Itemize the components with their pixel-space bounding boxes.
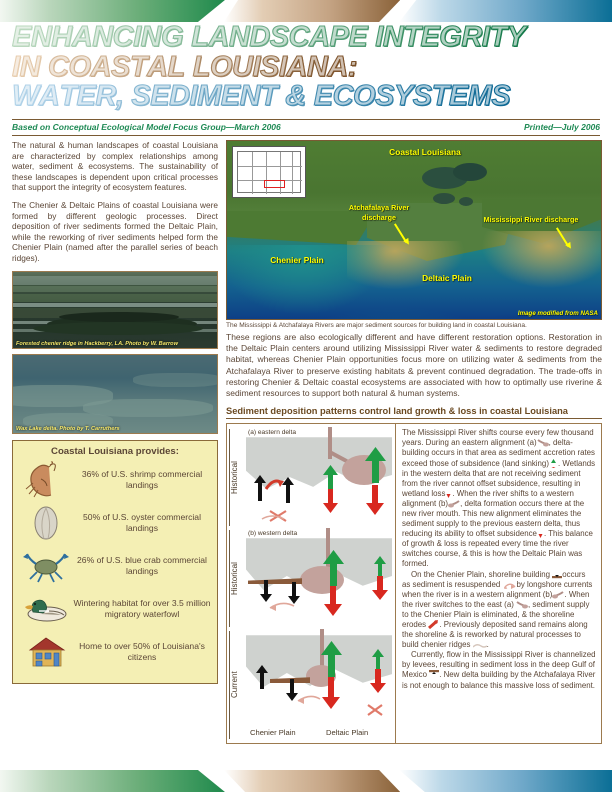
shoreline-building-icon [552,570,562,579]
photo-caption: Forested chenier ridge in Hackberry, LA.… [13,340,217,348]
black-arrow-down [288,582,300,604]
list-item-label: 50% of U.S. oyster commercial landings [73,512,211,534]
eastern-alignment-icon [516,601,528,609]
red-arrow-down-large [324,586,342,616]
gradient-segment-tan [224,770,400,792]
byline-printed: Printed—July 2006 [524,122,600,132]
restoration-paragraph: These regions are also ecologically diff… [226,332,602,399]
diagram-panel-current: Current Che [227,629,395,741]
photo-wax-lake-delta: Wax Lake delta. Photo by T. Carruthers [12,354,218,434]
photo-chenier-ridge: Forested chenier ridge in Hackberry, LA.… [12,271,218,349]
sediment-diagram-section: Historical (a) eastern delta [226,423,602,744]
photo-caption: Wax Lake delta. Photo by T. Carruthers [13,425,217,433]
panel-side-label: Historical [229,530,242,627]
list-item: 36% of U.S. shrimp commercial landings [19,461,211,499]
map-label-coastal-louisiana: Coastal Louisiana [355,147,495,157]
explanation-paragraph-2: On the Chenier Plain, shoreline building… [402,570,596,651]
intro-text: The natural & human landscapes of coasta… [12,140,218,264]
diagram-panel-eastern-delta: Historical (a) eastern delta [227,427,395,528]
list-item-label: Wintering habitat for over 3.5 million m… [73,598,211,620]
coastal-louisiana-provides-box: Coastal Louisiana provides: 36% of U.S. … [12,440,218,684]
satellite-map: Coastal Louisiana Atchafalaya River disc… [226,140,602,320]
red-curved-arrow [266,480,284,489]
explanation-paragraph-1: The Mississippi River shifts course ever… [402,428,596,569]
panel-arrows [244,427,396,528]
panel-arrows [244,629,396,741]
green-arrow-up-large [365,447,386,483]
chenier-ridges-icon [473,643,487,649]
bottom-gradient-bar [0,770,612,792]
red-arrow-down-large [366,485,384,515]
red-arrow-down [370,669,386,693]
diagram-panel-western-delta: Historical (b) western delta [227,528,395,629]
diagram-label-chenier-plain: Chenier Plain [250,728,296,737]
western-alignment-icon [552,591,564,599]
shoreline-erosion-icon [428,620,439,629]
text-run: On the Chenier Plain, shoreline building [411,570,550,579]
map-label-atchafalaya: Atchafalaya River discharge [335,203,423,223]
shoreline-squiggle [270,604,294,612]
sediment-loss-icon [429,670,439,679]
black-arrow-up [256,665,268,689]
diagram-label-deltaic-plain: Deltaic Plain [326,728,368,737]
explanation-paragraph-3: Currently, flow in the Mississippi River… [402,650,596,690]
locator-highlight-box [264,180,285,188]
list-item-label: Home to over 50% of Louisiana's citizens [73,641,211,663]
subsidence-icon [549,459,558,468]
green-arrow-up-small [374,556,386,576]
right-column: Coastal Louisiana Atchafalaya River disc… [226,140,602,744]
green-arrow-up-large [323,550,344,586]
black-arrow-down [286,679,298,701]
gradient-segment-blue [399,0,612,22]
provides-heading: Coastal Louisiana provides: [19,446,211,457]
list-item-label: 36% of U.S. shrimp commercial landings [73,469,211,491]
byline-source: Based on Conceptual Ecological Model Foc… [12,122,281,132]
panel-side-label: Historical [229,429,242,526]
subsidence-loss-icon [537,529,544,538]
list-item: 26% of U.S. blue crab commercial landing… [19,547,211,585]
green-arrow-up [323,465,338,489]
restoration-text: These regions are also ecologically diff… [226,332,602,399]
panel-scene: Chenier Plain Deltaic Plain [244,629,395,741]
red-arrow-down [323,489,338,513]
blue-crab-icon [19,547,73,585]
map-label-deltaic-plain: Deltaic Plain [407,273,487,283]
map-credit: Image modified from NASA [518,310,598,317]
title-line-2: IN COASTAL LOUISIANA: [12,54,602,82]
us-locator-inset [232,146,306,198]
map-caption: The Mississippi & Atchafalaya Rivers are… [226,320,602,332]
panel-arrows [244,528,396,629]
list-item: Home to over 50% of Louisiana's citizens [19,633,211,671]
panel-scene: (b) western delta [244,528,395,629]
green-arrow-up-small [372,649,384,669]
text-run: . [487,640,489,649]
green-arrow-up-large [321,641,342,677]
shrimp-icon [19,461,73,499]
panel-scene: (a) eastern delta [244,427,395,528]
resuspension-icon [502,582,516,589]
red-x-mark [368,705,382,715]
left-column: The natural & human landscapes of coasta… [12,140,218,684]
intro-paragraph-1: The natural & human landscapes of coasta… [12,140,218,193]
gradient-segment-green [0,0,225,22]
eastern-alignment-icon [537,439,549,447]
page-title: ENHANCING LANDSCAPE INTEGRITY IN COASTAL… [12,24,602,111]
top-gradient-bar [0,0,612,22]
map-label-chenier-plain: Chenier Plain [257,255,337,265]
map-label-mississippi: Mississippi River discharge [483,215,579,225]
list-item: 50% of U.S. oyster commercial landings [19,504,211,542]
byline: Based on Conceptual Ecological Model Foc… [12,119,600,136]
title-line-1: ENHANCING LANDSCAPE INTEGRITY [12,24,602,52]
oyster-icon [19,504,73,542]
black-arrow-up [254,475,266,501]
list-item: Wintering habitat for over 3.5 million m… [19,590,211,628]
red-arrow-down [372,576,388,600]
gradient-segment-tan [224,0,400,22]
duck-icon [19,590,73,628]
black-arrow-up [282,477,294,503]
house-icon [19,633,73,671]
western-alignment-icon [448,500,460,508]
delta-diagram-panels: Historical (a) eastern delta [227,424,395,743]
red-arrow-down-large [322,677,340,709]
intro-paragraph-2: The Chenier & Deltaic Plains of coastal … [12,200,218,264]
panel-side-label: Current [229,631,242,739]
black-arrow-down [260,580,272,602]
section-heading: Sediment deposition patterns control lan… [226,406,602,419]
explanation-text: The Mississippi River shifts course ever… [395,424,601,743]
gradient-segment-blue [399,770,612,792]
title-line-3: WATER, SEDIMENT & ECOSYSTEMS [12,83,602,111]
list-item-label: 26% of U.S. blue crab commercial landing… [73,555,211,577]
shoreline-squiggle [298,697,320,705]
gradient-segment-green [0,770,225,792]
